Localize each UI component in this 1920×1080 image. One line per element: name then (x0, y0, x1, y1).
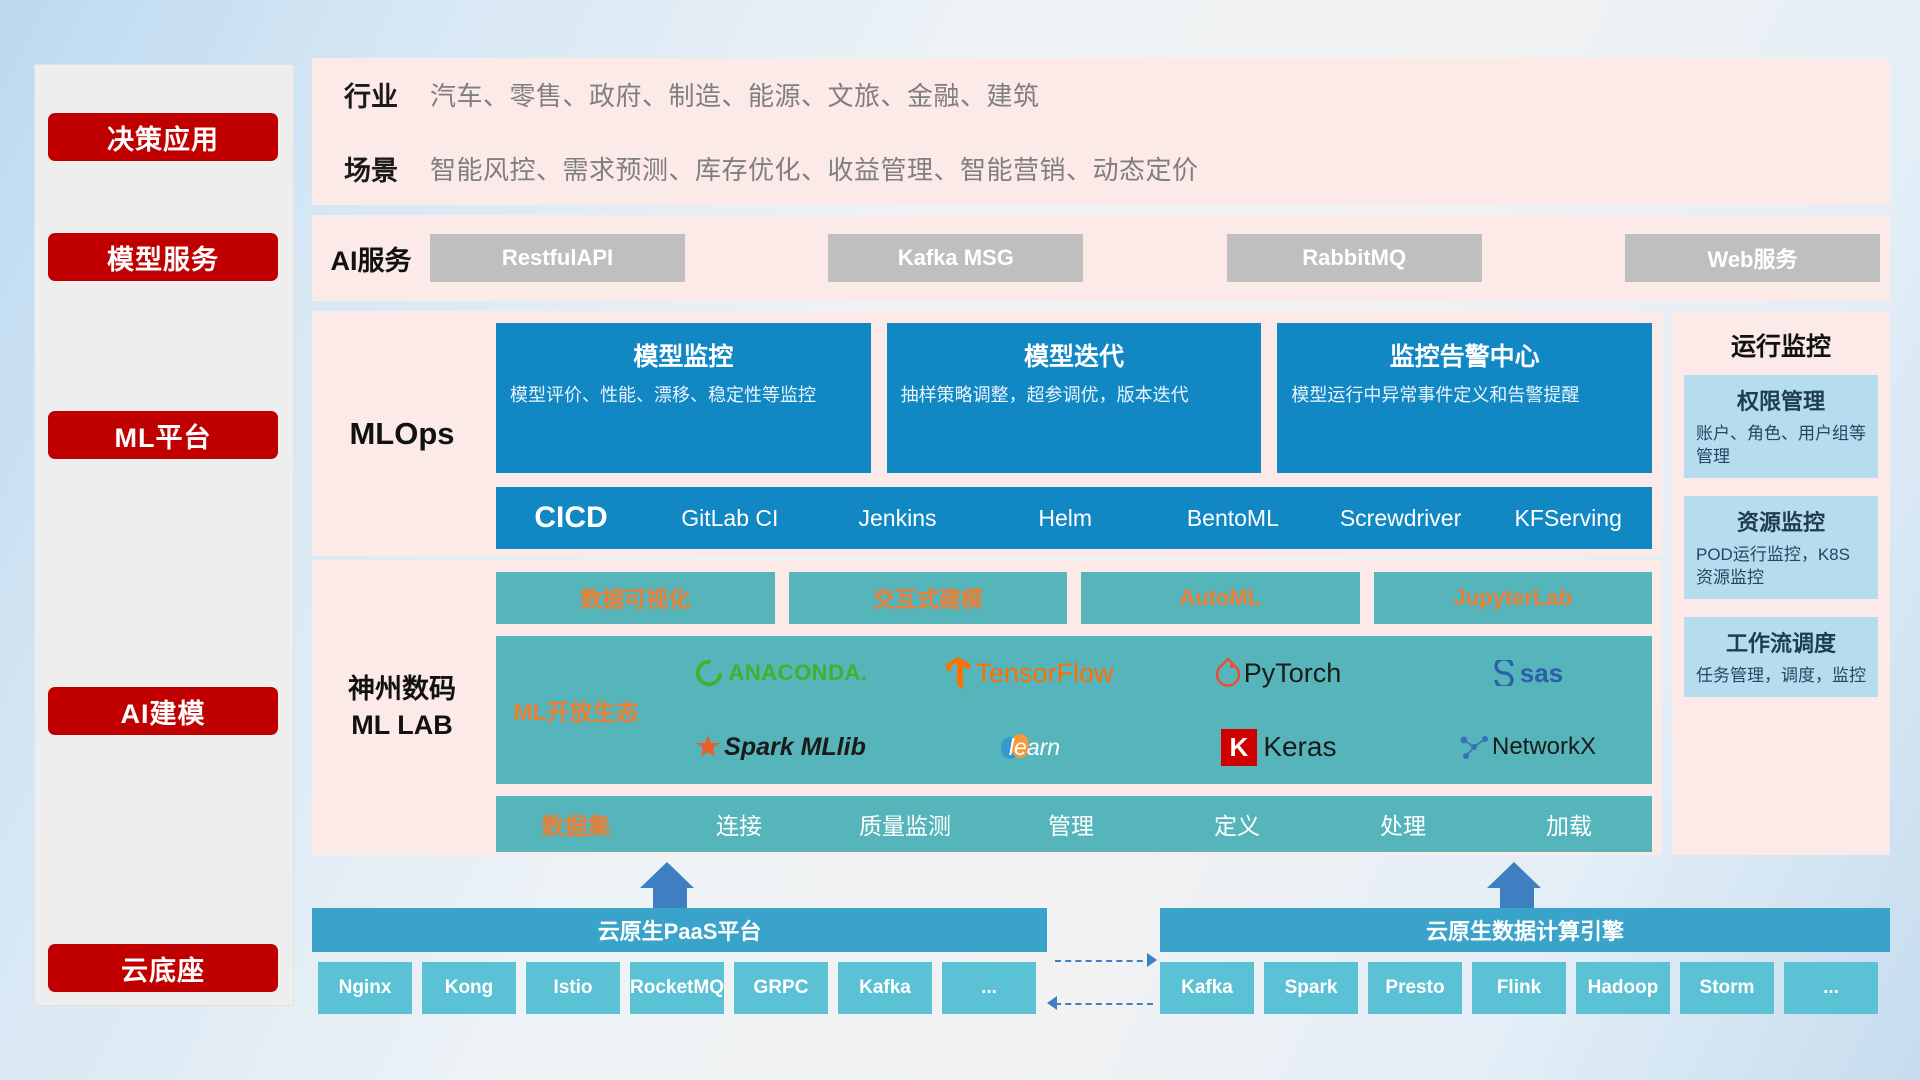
cloud-chip[interactable]: Kafka (838, 962, 932, 1014)
cloud-chip[interactable]: ... (1784, 962, 1878, 1014)
rail-badge-cloud-base[interactable]: 云底座 (48, 944, 278, 992)
dash-arrow-left (1047, 996, 1057, 1010)
dataset-row: 数据集 连接 质量监测 管理 定义 处理 加载 (496, 796, 1652, 852)
rail-badge-label: AI建模 (121, 692, 206, 731)
ml-ecosystem-row: ML开放生态 ANACONDA. TensorFlow PyTorch (496, 636, 1652, 784)
mlops-card[interactable]: 模型迭代 抽样策略调整，超参调优，版本迭代 (887, 323, 1262, 473)
ai-service-chip[interactable]: RestfulAPI (430, 234, 685, 282)
cicd-item[interactable]: BentoML (1149, 498, 1317, 538)
ml-lab-tab-list: 数据可视化 交互式建模 AutoML JupyterLab (496, 572, 1652, 624)
cicd-item[interactable]: KFServing (1484, 498, 1652, 538)
monitoring-card-title: 资源监控 (1696, 505, 1866, 537)
tensorflow-logo-text: TensorFlow (975, 658, 1113, 689)
monitoring-card-desc: 账户、角色、用户组等管理 (1696, 423, 1866, 469)
mlops-card-title: 模型监控 (510, 337, 857, 373)
monitoring-card-resource[interactable]: 资源监控 POD运行监控，K8S资源监控 (1684, 496, 1878, 599)
dataset-item[interactable]: 质量监测 (822, 807, 988, 841)
monitoring-card-permission[interactable]: 权限管理 账户、角色、用户组等管理 (1684, 375, 1878, 478)
rail-badge-model-service[interactable]: 模型服务 (48, 233, 278, 281)
industry-key: 行业 (312, 75, 430, 114)
diagram-canvas: 决策应用 模型服务 ML平台 AI建模 云底座 行业 汽车、零售、政府、制造、能… (0, 0, 1920, 1080)
ai-modeling-panel: 神州数码 ML LAB 数据可视化 交互式建模 AutoML JupyterLa… (312, 560, 1662, 855)
cloud-chip[interactable]: Storm (1680, 962, 1774, 1014)
monitoring-card-desc: 任务管理，调度，监控 (1696, 665, 1866, 688)
ml-ecosystem-label: ML开放生态 (496, 636, 656, 784)
ml-logo-grid: ANACONDA. TensorFlow PyTorch sas (656, 636, 1652, 784)
decision-apps-panel: 行业 汽车、零售、政府、制造、能源、文旅、金融、建筑 场景 智能风控、需求预测、… (312, 58, 1890, 205)
monitoring-card-desc: POD运行监控，K8S资源监控 (1696, 544, 1866, 590)
tab-automl[interactable]: AutoML (1081, 572, 1360, 624)
rail-badge-label: ML平台 (115, 416, 212, 455)
scenario-row: 场景 智能风控、需求预测、库存优化、收益管理、智能营销、动态定价 (312, 132, 1890, 206)
networkx-logo: NetworkX (1403, 710, 1652, 784)
cloud-chip[interactable]: RocketMQ (630, 962, 724, 1014)
rail-badge-label: 模型服务 (107, 238, 219, 277)
data-engine-bar[interactable]: 云原生数据计算引擎 (1160, 908, 1890, 952)
scikit-learn-logo: learn (905, 710, 1154, 784)
cloud-chip[interactable]: Nginx (318, 962, 412, 1014)
ai-service-chip[interactable]: RabbitMQ (1227, 234, 1482, 282)
dataset-item[interactable]: 管理 (988, 807, 1154, 841)
dataset-label: 数据集 (496, 807, 656, 841)
sas-logo-text: sas (1520, 658, 1563, 689)
mlops-key: MLOps (312, 311, 492, 556)
tensorflow-logo: TensorFlow (905, 636, 1154, 710)
cloud-chip[interactable]: Presto (1368, 962, 1462, 1014)
ai-service-panel: AI服务 RestfulAPI Kafka MSG RabbitMQ Web服务 (312, 215, 1890, 301)
monitoring-card-workflow[interactable]: 工作流调度 任务管理，调度，监控 (1684, 617, 1878, 697)
paas-chip-list: Nginx Kong Istio RocketMQ GRPC Kafka ... (318, 962, 1036, 1014)
dash-connector-bottom (1055, 1003, 1153, 1005)
keras-logo-mark: K (1221, 729, 1258, 766)
sas-logo: sas (1403, 636, 1652, 710)
ai-service-chip[interactable]: Web服务 (1625, 234, 1880, 282)
dash-arrow-right (1147, 953, 1157, 967)
pytorch-logo: PyTorch (1154, 636, 1403, 710)
data-engine-chip-list: Kafka Spark Presto Flink Hadoop Storm ..… (1160, 962, 1878, 1014)
keras-logo-text: Keras (1263, 731, 1336, 763)
dataset-item[interactable]: 定义 (1154, 807, 1320, 841)
rail-badge-decision[interactable]: 决策应用 (48, 113, 278, 161)
cloud-chip[interactable]: GRPC (734, 962, 828, 1014)
cicd-item[interactable]: Helm (981, 498, 1149, 538)
mlops-card-title: 监控告警中心 (1291, 337, 1638, 373)
ml-lab-key-line2: ML LAB (351, 708, 453, 743)
paas-platform-bar[interactable]: 云原生PaaS平台 (312, 908, 1047, 952)
cloud-chip[interactable]: Kong (422, 962, 516, 1014)
cloud-chip[interactable]: ... (942, 962, 1036, 1014)
tab-data-visualization[interactable]: 数据可视化 (496, 572, 775, 624)
monitoring-title: 运行监控 (1672, 311, 1890, 375)
scenario-key: 场景 (312, 149, 430, 188)
cloud-chip[interactable]: Flink (1472, 962, 1566, 1014)
rail-badge-ai-modeling[interactable]: AI建模 (48, 687, 278, 735)
ml-lab-content: 数据可视化 交互式建模 AutoML JupyterLab ML开放生态 ANA… (496, 572, 1652, 852)
dataset-item[interactable]: 处理 (1320, 807, 1486, 841)
mlops-card-desc: 抽样策略调整，超参调优，版本迭代 (901, 383, 1248, 407)
dataset-item[interactable]: 连接 (656, 807, 822, 841)
industry-value: 汽车、零售、政府、制造、能源、文旅、金融、建筑 (430, 76, 1040, 113)
cicd-label: CICD (496, 501, 646, 535)
layer-rail (34, 64, 294, 1006)
mlops-panel: MLOps 模型监控 模型评价、性能、漂移、稳定性等监控 模型迭代 抽样策略调整… (312, 311, 1662, 556)
mlops-card[interactable]: 模型监控 模型评价、性能、漂移、稳定性等监控 (496, 323, 871, 473)
monitoring-panel: 运行监控 权限管理 账户、角色、用户组等管理 资源监控 POD运行监控，K8S资… (1672, 311, 1890, 855)
scenario-value: 智能风控、需求预测、库存优化、收益管理、智能营销、动态定价 (430, 150, 1199, 187)
cloud-chip[interactable]: Hadoop (1576, 962, 1670, 1014)
cicd-row: CICD GitLab CI Jenkins Helm BentoML Scre… (496, 487, 1652, 549)
mlops-card-desc: 模型运行中异常事件定义和告警提醒 (1291, 383, 1638, 407)
rail-badge-label: 决策应用 (107, 118, 219, 157)
cicd-item[interactable]: Jenkins (814, 498, 982, 538)
paas-platform-label: 云原生PaaS平台 (598, 914, 762, 946)
cloud-chip[interactable]: Spark (1264, 962, 1358, 1014)
tab-interactive-modeling[interactable]: 交互式建模 (789, 572, 1068, 624)
ai-service-key: AI服务 (312, 239, 430, 278)
rail-badge-label: 云底座 (121, 949, 205, 988)
cloud-chip[interactable]: Kafka (1160, 962, 1254, 1014)
ai-service-chip-list: RestfulAPI Kafka MSG RabbitMQ Web服务 (430, 234, 1890, 282)
rail-badge-ml-platform[interactable]: ML平台 (48, 411, 278, 459)
cicd-item[interactable]: GitLab CI (646, 498, 814, 538)
scikit-learn-logo-text: learn (1009, 734, 1060, 761)
ml-lab-key-line1: 神州数码 (348, 672, 456, 707)
spark-mllib-logo-text: Spark MLlib (724, 733, 866, 762)
networkx-logo-text: NetworkX (1492, 733, 1596, 761)
data-engine-label: 云原生数据计算引擎 (1426, 914, 1624, 946)
ai-service-chip[interactable]: Kafka MSG (828, 234, 1083, 282)
cloud-chip[interactable]: Istio (526, 962, 620, 1014)
mlops-card-desc: 模型评价、性能、漂移、稳定性等监控 (510, 383, 857, 407)
ml-lab-key: 神州数码 ML LAB (312, 560, 492, 855)
anaconda-logo: ANACONDA. (656, 636, 905, 710)
mlops-card[interactable]: 监控告警中心 模型运行中异常事件定义和告警提醒 (1277, 323, 1652, 473)
mlops-card-title: 模型迭代 (901, 337, 1248, 373)
mlops-card-list: 模型监控 模型评价、性能、漂移、稳定性等监控 模型迭代 抽样策略调整，超参调优，… (496, 323, 1652, 473)
spark-mllib-logo: Spark MLlib (656, 710, 905, 784)
pytorch-logo-text: PyTorch (1244, 658, 1342, 689)
dataset-item[interactable]: 加载 (1486, 807, 1652, 841)
monitoring-card-title: 工作流调度 (1696, 626, 1866, 658)
anaconda-logo-text: ANACONDA. (729, 660, 868, 686)
tab-jupyterlab[interactable]: JupyterLab (1374, 572, 1653, 624)
monitoring-card-title: 权限管理 (1696, 384, 1866, 416)
dash-connector-top (1055, 960, 1153, 962)
cicd-item[interactable]: Screwdriver (1317, 498, 1485, 538)
industry-row: 行业 汽车、零售、政府、制造、能源、文旅、金融、建筑 (312, 58, 1890, 132)
keras-logo: K Keras (1154, 710, 1403, 784)
